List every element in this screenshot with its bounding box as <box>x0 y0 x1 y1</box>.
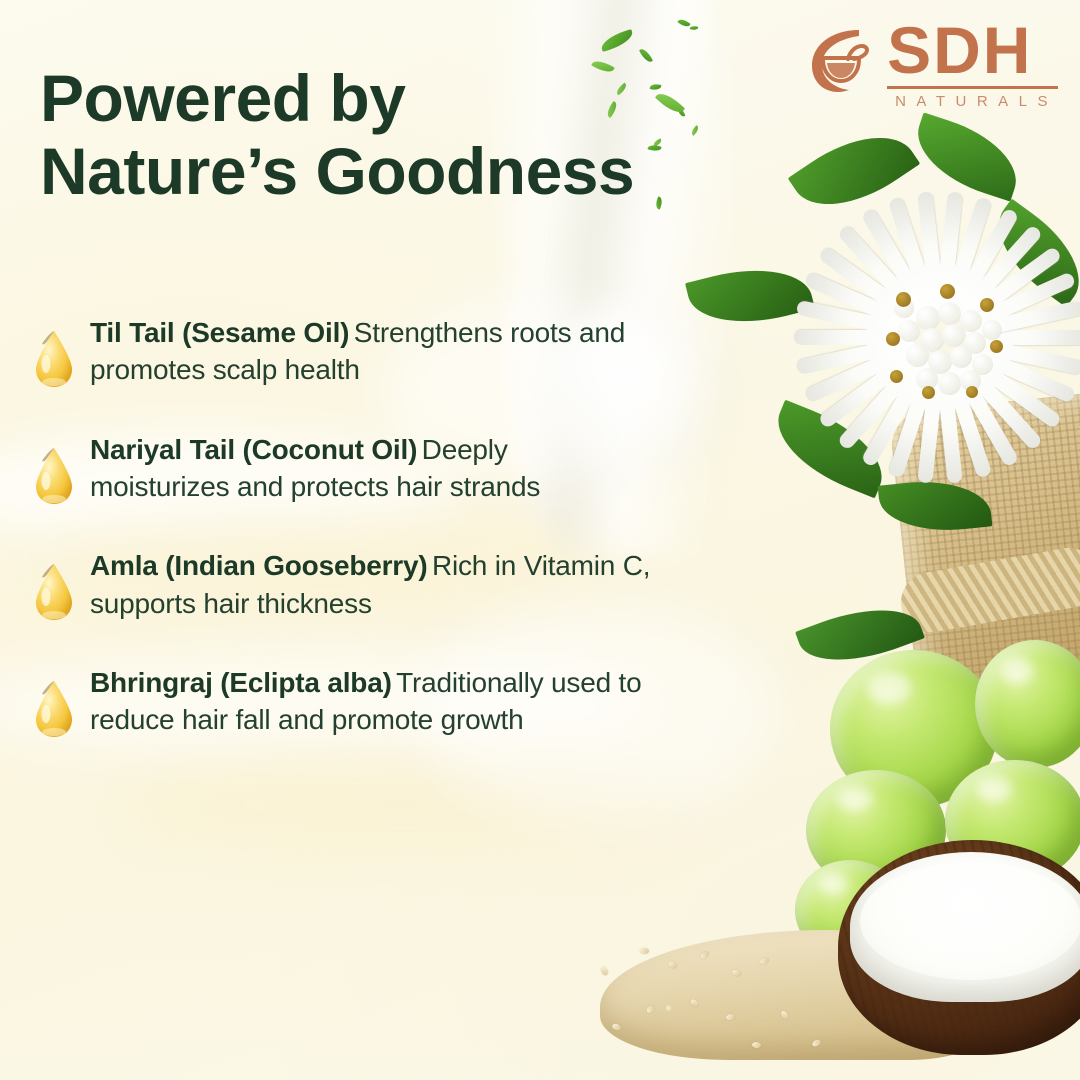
oil-drop-icon <box>32 447 76 505</box>
amla-gooseberry-image <box>795 860 905 960</box>
amla-gooseberry-image <box>945 760 1080 882</box>
page-title: Powered by Nature’s Goodness <box>40 62 634 207</box>
benefit-item-amla: Amla (Indian Gooseberry) Rich in Vitamin… <box>32 545 652 622</box>
brand-logo[interactable]: SDH NATURALS <box>803 20 1058 110</box>
benefit-title: Til Tail (Sesame Oil) <box>90 317 349 348</box>
promotional-poster: SDH NATURALS Powered by Nature’s Goodnes… <box>0 0 1080 1080</box>
burlap-sack-fold <box>896 543 1080 637</box>
oil-drop-icon <box>32 563 76 621</box>
sesame-seeds-image <box>600 930 980 1060</box>
green-leaf <box>878 474 993 537</box>
benefit-item-nariyal-tail: Nariyal Tail (Coconut Oil) Deeply moistu… <box>32 429 652 506</box>
headline-line-2: Nature’s Goodness <box>40 135 634 208</box>
headline-line-1: Powered by <box>40 62 634 135</box>
green-leaf <box>685 254 815 337</box>
burlap-sack-image <box>888 388 1080 742</box>
logo-tagline: NATURALS <box>887 93 1058 110</box>
green-leaf <box>979 199 1080 308</box>
green-leaf <box>795 591 925 679</box>
benefit-title: Amla (Indian Gooseberry) <box>90 550 428 581</box>
green-leaf <box>764 400 897 499</box>
leaf-mortar-icon <box>803 24 877 98</box>
amla-gooseberry-image <box>830 650 998 808</box>
benefit-title: Bhringraj (Eclipta alba) <box>90 667 392 698</box>
oil-drop-icon <box>32 680 76 738</box>
benefits-list: Til Tail (Sesame Oil) Strengthens roots … <box>32 312 652 739</box>
logo-divider <box>887 86 1058 89</box>
logo-wordmark: SDH <box>887 20 1058 81</box>
coconut-half-image <box>838 840 1080 1055</box>
oil-drop-icon <box>32 330 76 388</box>
benefit-item-bhringraj: Bhringraj (Eclipta alba) Traditionally u… <box>32 662 652 739</box>
green-leaf <box>788 112 920 229</box>
benefit-title: Nariyal Tail (Coconut Oil) <box>90 434 417 465</box>
green-leaf <box>906 112 1029 201</box>
benefit-item-til-tail: Til Tail (Sesame Oil) Strengthens roots … <box>32 312 652 389</box>
bhringraj-flower-image <box>790 180 1080 480</box>
amla-gooseberry-image <box>806 770 946 890</box>
amla-gooseberry-image <box>975 640 1080 768</box>
